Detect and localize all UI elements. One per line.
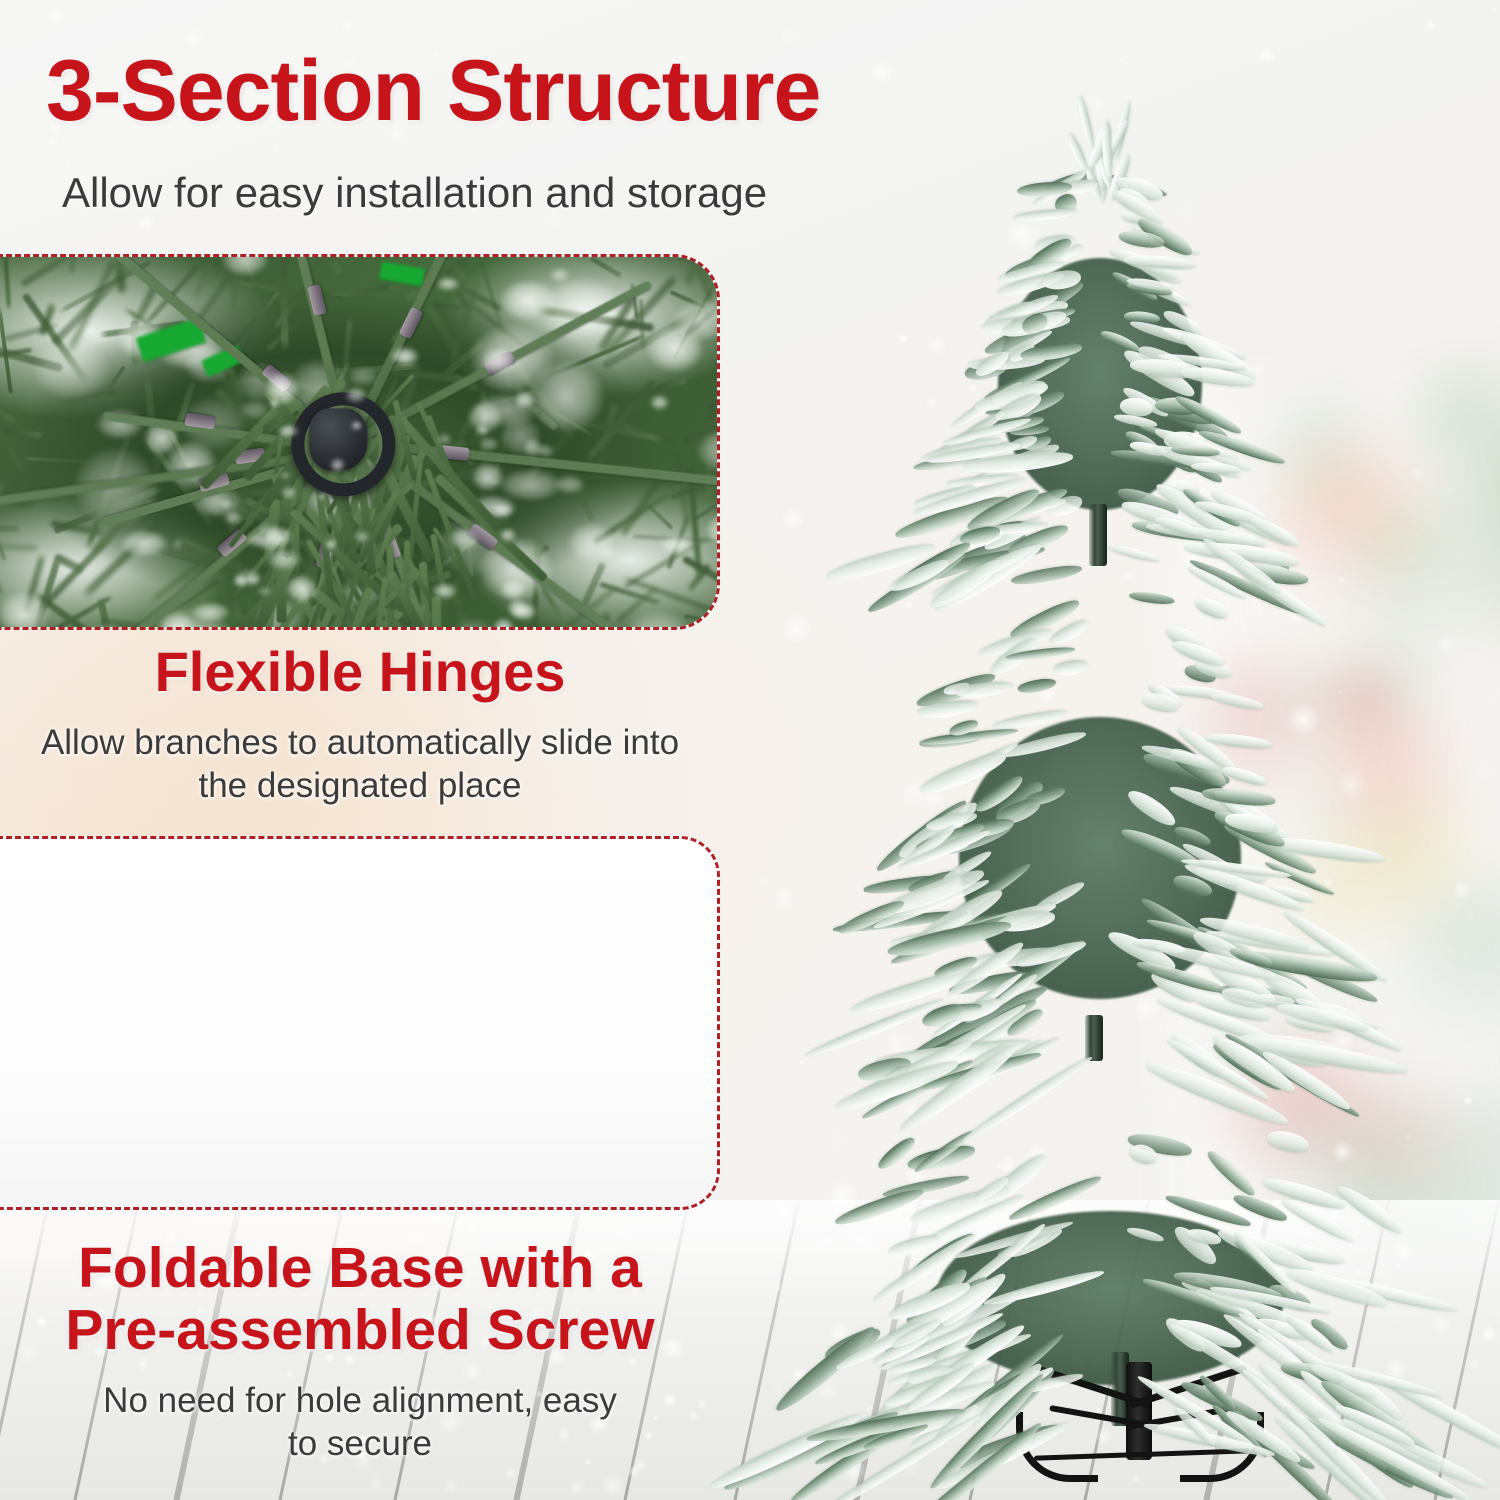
tree-section-middle	[865, 585, 1335, 1055]
tree-branch	[1128, 590, 1175, 606]
tree-branch	[1013, 207, 1078, 223]
tree-branch	[1193, 594, 1231, 622]
section-connector-pole	[1085, 1015, 1103, 1061]
tree-section-top	[930, 140, 1270, 560]
feature-subtitle-hinges: Allow branches to automatically slide in…	[0, 722, 720, 807]
hinge-hub-icon	[283, 384, 403, 504]
base-photo	[0, 839, 717, 1207]
tree-branch	[1265, 1127, 1311, 1155]
section-connector-pole	[1089, 504, 1107, 566]
infographic-canvas: 3-Section Structure Allow for easy insta…	[0, 0, 1500, 1500]
tree-branch	[1220, 763, 1269, 789]
feature-subtitle-base: No need for hole alignment, easy to secu…	[0, 1380, 720, 1465]
hinges-sub-line1: Allow branches to automatically slide in…	[0, 722, 720, 765]
base-title-line2: Pre-assembled Screw	[0, 1300, 720, 1362]
tree-branch	[1210, 690, 1265, 712]
base-title-line1: Foldable Base with a	[0, 1238, 720, 1300]
base-photo-panel	[0, 836, 720, 1210]
base-sub-line2: to secure	[0, 1423, 720, 1466]
tree-section-bottom	[820, 1130, 1400, 1420]
branch-tag	[379, 261, 425, 286]
base-sub-line1: No need for hole alignment, easy	[0, 1380, 720, 1423]
page-subtitle: Allow for easy installation and storage	[62, 170, 767, 216]
feature-title-base: Foldable Base with a Pre-assembled Screw	[0, 1238, 720, 1361]
hinges-sub-line2: the designated place	[0, 765, 720, 808]
feature-title-hinges: Flexible Hinges	[0, 642, 720, 702]
hinge-photo-panel	[0, 254, 720, 630]
tree-branch	[832, 1184, 925, 1229]
tree-branch	[1053, 658, 1090, 678]
tree-branch	[1204, 1147, 1259, 1200]
hinge-photo	[0, 257, 717, 627]
page-title: 3-Section Structure	[46, 48, 820, 134]
tree-branch	[1016, 677, 1057, 696]
